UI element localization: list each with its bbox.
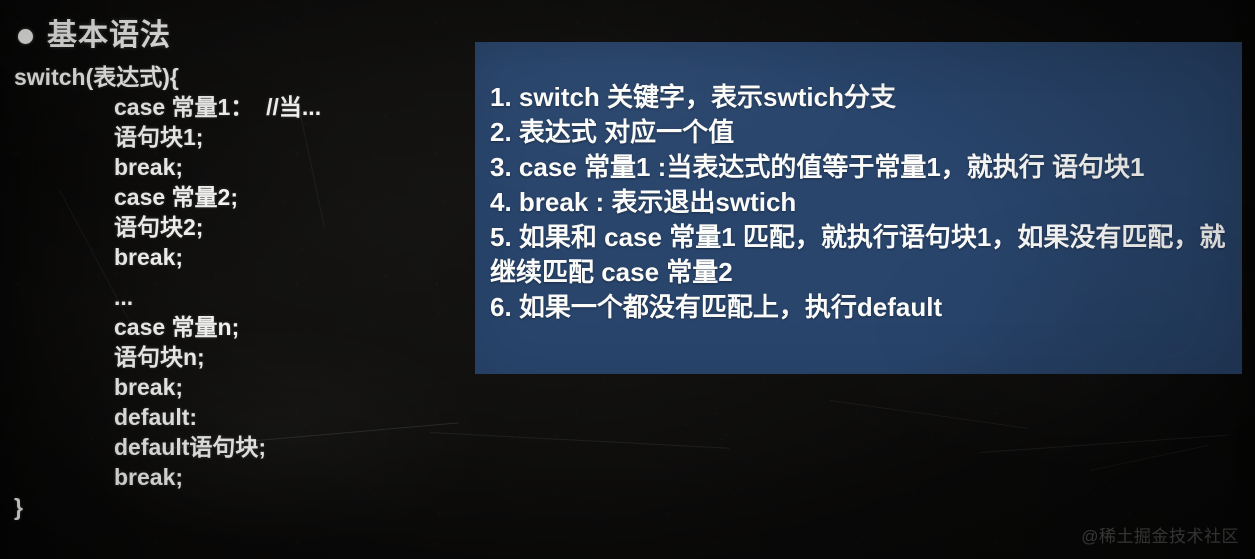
filled-circle-bullet-icon [18, 29, 33, 44]
code-line: break; [14, 242, 464, 272]
code-line: switch(表达式){ [14, 62, 464, 92]
code-line: 语句块1; [14, 122, 464, 152]
explanation-item: 5. 如果和 case 常量1 匹配，就执行语句块1，如果没有匹配，就继续匹配 … [490, 220, 1242, 290]
code-line: default: [14, 402, 464, 432]
code-line: } [14, 492, 464, 522]
code-line: case 常量1： //当... [14, 92, 464, 122]
code-line: 语句块n; [14, 342, 464, 372]
code-line: break; [14, 152, 464, 182]
code-line [14, 272, 464, 282]
slide-canvas: 基本语法 switch(表达式){case 常量1： //当...语句块1;br… [0, 0, 1255, 559]
code-line: default语句块; [14, 432, 464, 462]
explanation-item: 2. 表达式 对应一个值 [490, 115, 1242, 150]
code-line: 语句块2; [14, 212, 464, 242]
explanation-item: 3. case 常量1 :当表达式的值等于常量1，就执行 语句块1 [490, 150, 1242, 185]
code-line: case 常量2; [14, 182, 464, 212]
section-heading-label: 基本语法 [47, 21, 171, 51]
explanation-item: 1. switch 关键字，表示swtich分支 [490, 80, 1242, 115]
code-line: break; [14, 462, 464, 492]
explanation-item: 6. 如果一个都没有匹配上，执行default [490, 290, 1242, 325]
explanation-item: 4. break : 表示退出swtich [490, 185, 1242, 220]
syntax-code-column: 基本语法 switch(表达式){case 常量1： //当...语句块1;br… [0, 0, 470, 559]
code-line: ... [14, 282, 464, 312]
explanation-panel: 1. switch 关键字，表示swtich分支2. 表达式 对应一个值3. c… [475, 42, 1242, 374]
section-heading: 基本语法 [18, 21, 171, 51]
explanation-list: 1. switch 关键字，表示swtich分支2. 表达式 对应一个值3. c… [490, 80, 1242, 325]
code-block: switch(表达式){case 常量1： //当...语句块1;break;c… [14, 62, 464, 522]
code-line: break; [14, 372, 464, 402]
code-line: case 常量n; [14, 312, 464, 342]
